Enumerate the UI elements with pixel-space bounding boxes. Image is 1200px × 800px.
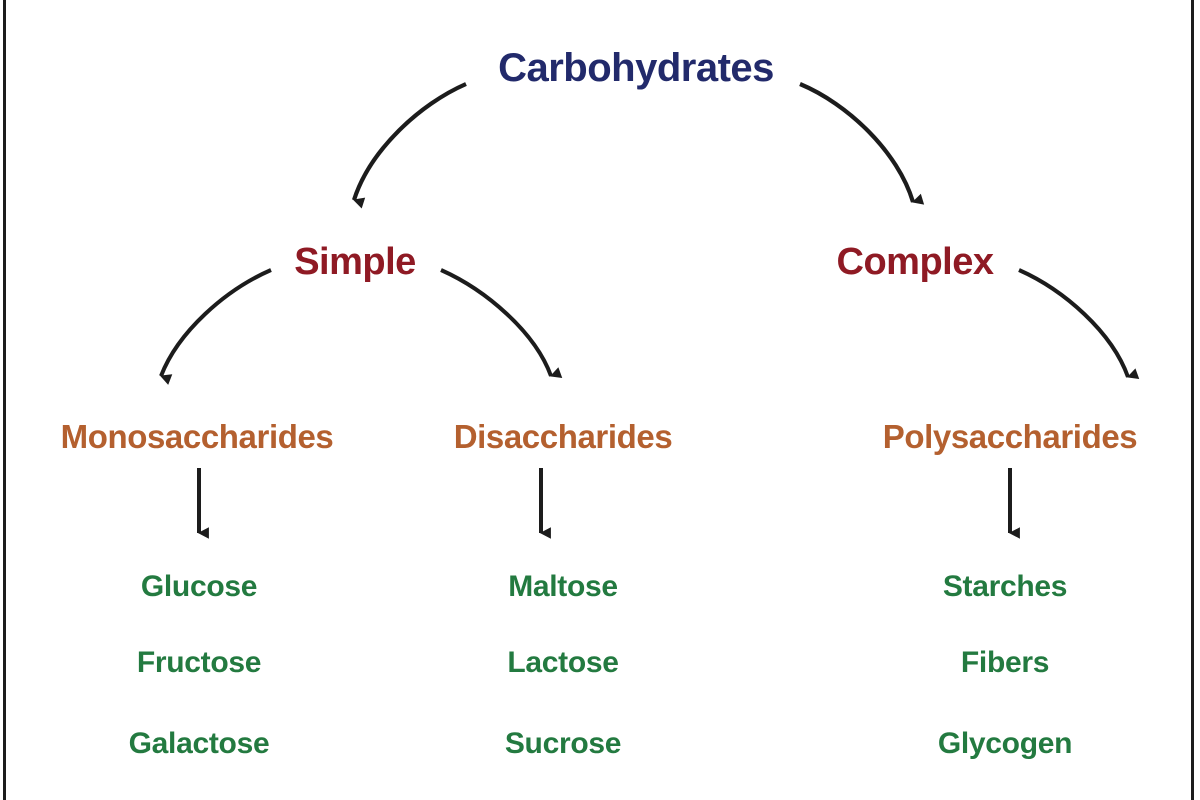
node-simple: Simple [294, 243, 416, 281]
edge-carbohydrates-to-complex [800, 84, 913, 202]
leaf-fibers: Fibers [961, 648, 1049, 678]
node-complex: Complex [837, 243, 994, 281]
leaf-lactose: Lactose [507, 648, 618, 678]
edge-carbohydrates-to-simple [354, 84, 466, 200]
diagram-connectors [0, 0, 1200, 800]
edge-simple-to-monosaccharides [161, 270, 271, 376]
leaf-galactose: Galactose [129, 729, 270, 759]
node-polysaccharides: Polysaccharides [883, 420, 1138, 453]
leaf-maltose: Maltose [508, 572, 618, 602]
left-border-line [3, 0, 6, 800]
leaf-sucrose: Sucrose [505, 729, 621, 759]
node-disaccharides: Disaccharides [454, 420, 673, 453]
node-carbohydrates: Carbohydrates [498, 48, 774, 88]
leaf-glycogen: Glycogen [938, 729, 1072, 759]
carbohydrates-diagram: Carbohydrates Simple Complex Monosacchar… [0, 0, 1200, 800]
node-monosaccharides: Monosaccharides [61, 420, 334, 453]
leaf-starches: Starches [943, 572, 1067, 602]
right-border-line [1191, 0, 1194, 800]
edge-complex-to-polysaccharides [1019, 270, 1128, 377]
edge-simple-to-disaccharides [441, 270, 551, 376]
leaf-glucose: Glucose [141, 572, 257, 602]
leaf-fructose: Fructose [137, 648, 261, 678]
